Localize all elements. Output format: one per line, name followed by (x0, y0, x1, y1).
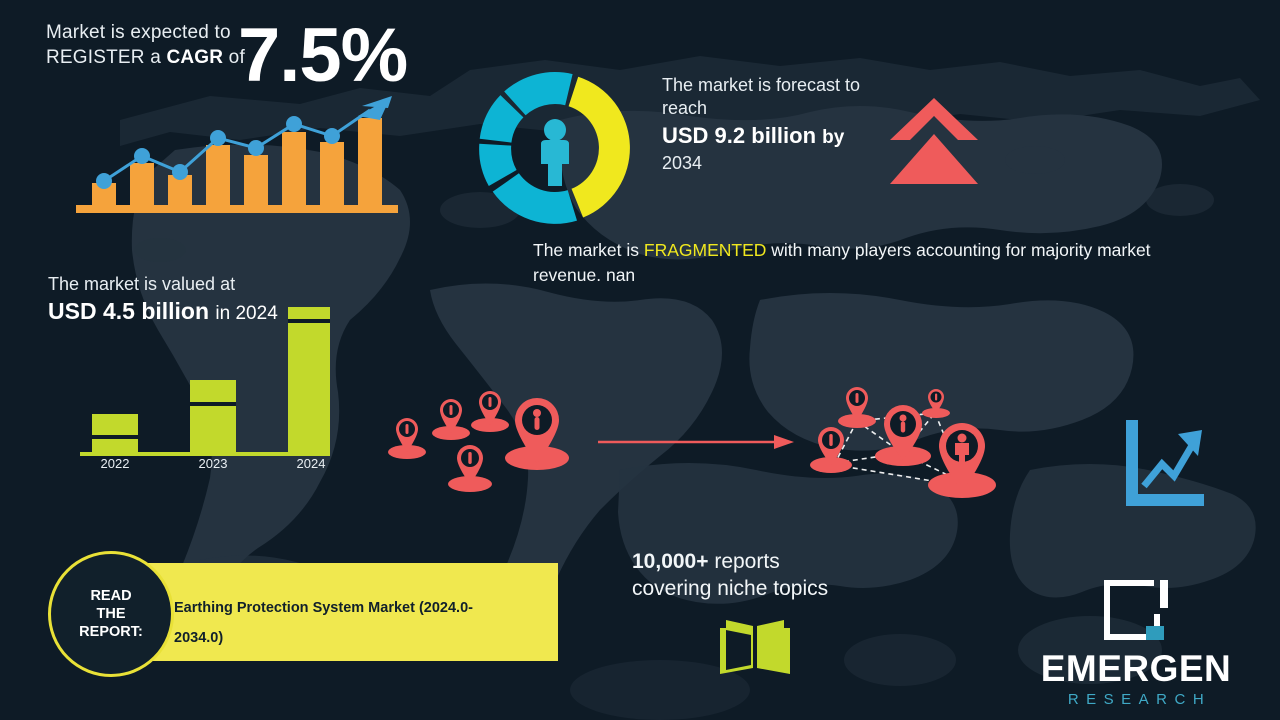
badge-line-3: REPORT: (79, 624, 143, 640)
reports-count-block: 10,000+ reports covering niche topics (632, 548, 932, 602)
square-bracket-mark-icon (1102, 578, 1170, 642)
brand-name: EMERGEN (1026, 648, 1246, 690)
forecast-intro: The market is forecast to reach (662, 74, 892, 120)
cagr-label-line1: Market is expected to (46, 22, 231, 43)
right-arrow-icon (596, 432, 796, 452)
open-book-icon (718, 612, 792, 676)
forecast-year: 2034 (662, 152, 892, 174)
reports-count-text: 10,000+ reports covering niche topics (632, 548, 932, 602)
badge-line-1: READ (90, 588, 131, 604)
cagr-label-line2-pre: REGISTER a (46, 47, 166, 68)
read-the-report-label: READ THE REPORT: (79, 587, 143, 641)
double-chevron-up-icon (888, 96, 980, 186)
cagr-block: Market is expected to REGISTER a CAGR of… (46, 20, 466, 70)
bar-label-2023: 2023 (183, 456, 243, 471)
forecast-by-label: by (822, 127, 844, 148)
growth-chart-arrow-icon (1120, 418, 1206, 510)
reports-count-number: 10,000+ (632, 550, 709, 573)
valuation-bar-chart (70, 290, 330, 460)
cagr-label-bold: CAGR (166, 47, 223, 68)
report-title: Earthing Protection System Market (2024.… (174, 593, 504, 653)
market-share-donut (462, 55, 648, 241)
badge-line-2: THE (97, 606, 126, 622)
reports-count-suffix: reports (709, 550, 780, 573)
fragmentation-pre: The market is (533, 240, 644, 260)
growth-bar-chart (62, 80, 412, 220)
map-pin-network-connected (805, 385, 1020, 505)
reports-count-line2: covering niche topics (632, 577, 828, 600)
infographic-canvas: Market is expected to REGISTER a CAGR of… (0, 0, 1280, 720)
cagr-label: Market is expected to REGISTER a CAGR of (46, 20, 246, 70)
bar-label-2024: 2024 (281, 456, 341, 471)
forecast-block: The market is forecast to reach USD 9.2 … (662, 74, 892, 174)
forecast-value: USD 9.2 billion by (662, 122, 892, 152)
fragmentation-highlight: FRAGMENTED (644, 240, 767, 260)
map-pin-cluster-scattered (385, 388, 585, 493)
fragmentation-note: The market is FRAGMENTED with many playe… (533, 238, 1213, 288)
read-the-report-badge[interactable]: READ THE REPORT: (48, 551, 174, 677)
brand-subtitle: RESEARCH (1026, 690, 1246, 710)
bar-label-2022: 2022 (85, 456, 145, 471)
brand-logo: EMERGEN RESEARCH (1026, 578, 1246, 710)
forecast-amount: USD 9.2 billion (662, 123, 816, 148)
